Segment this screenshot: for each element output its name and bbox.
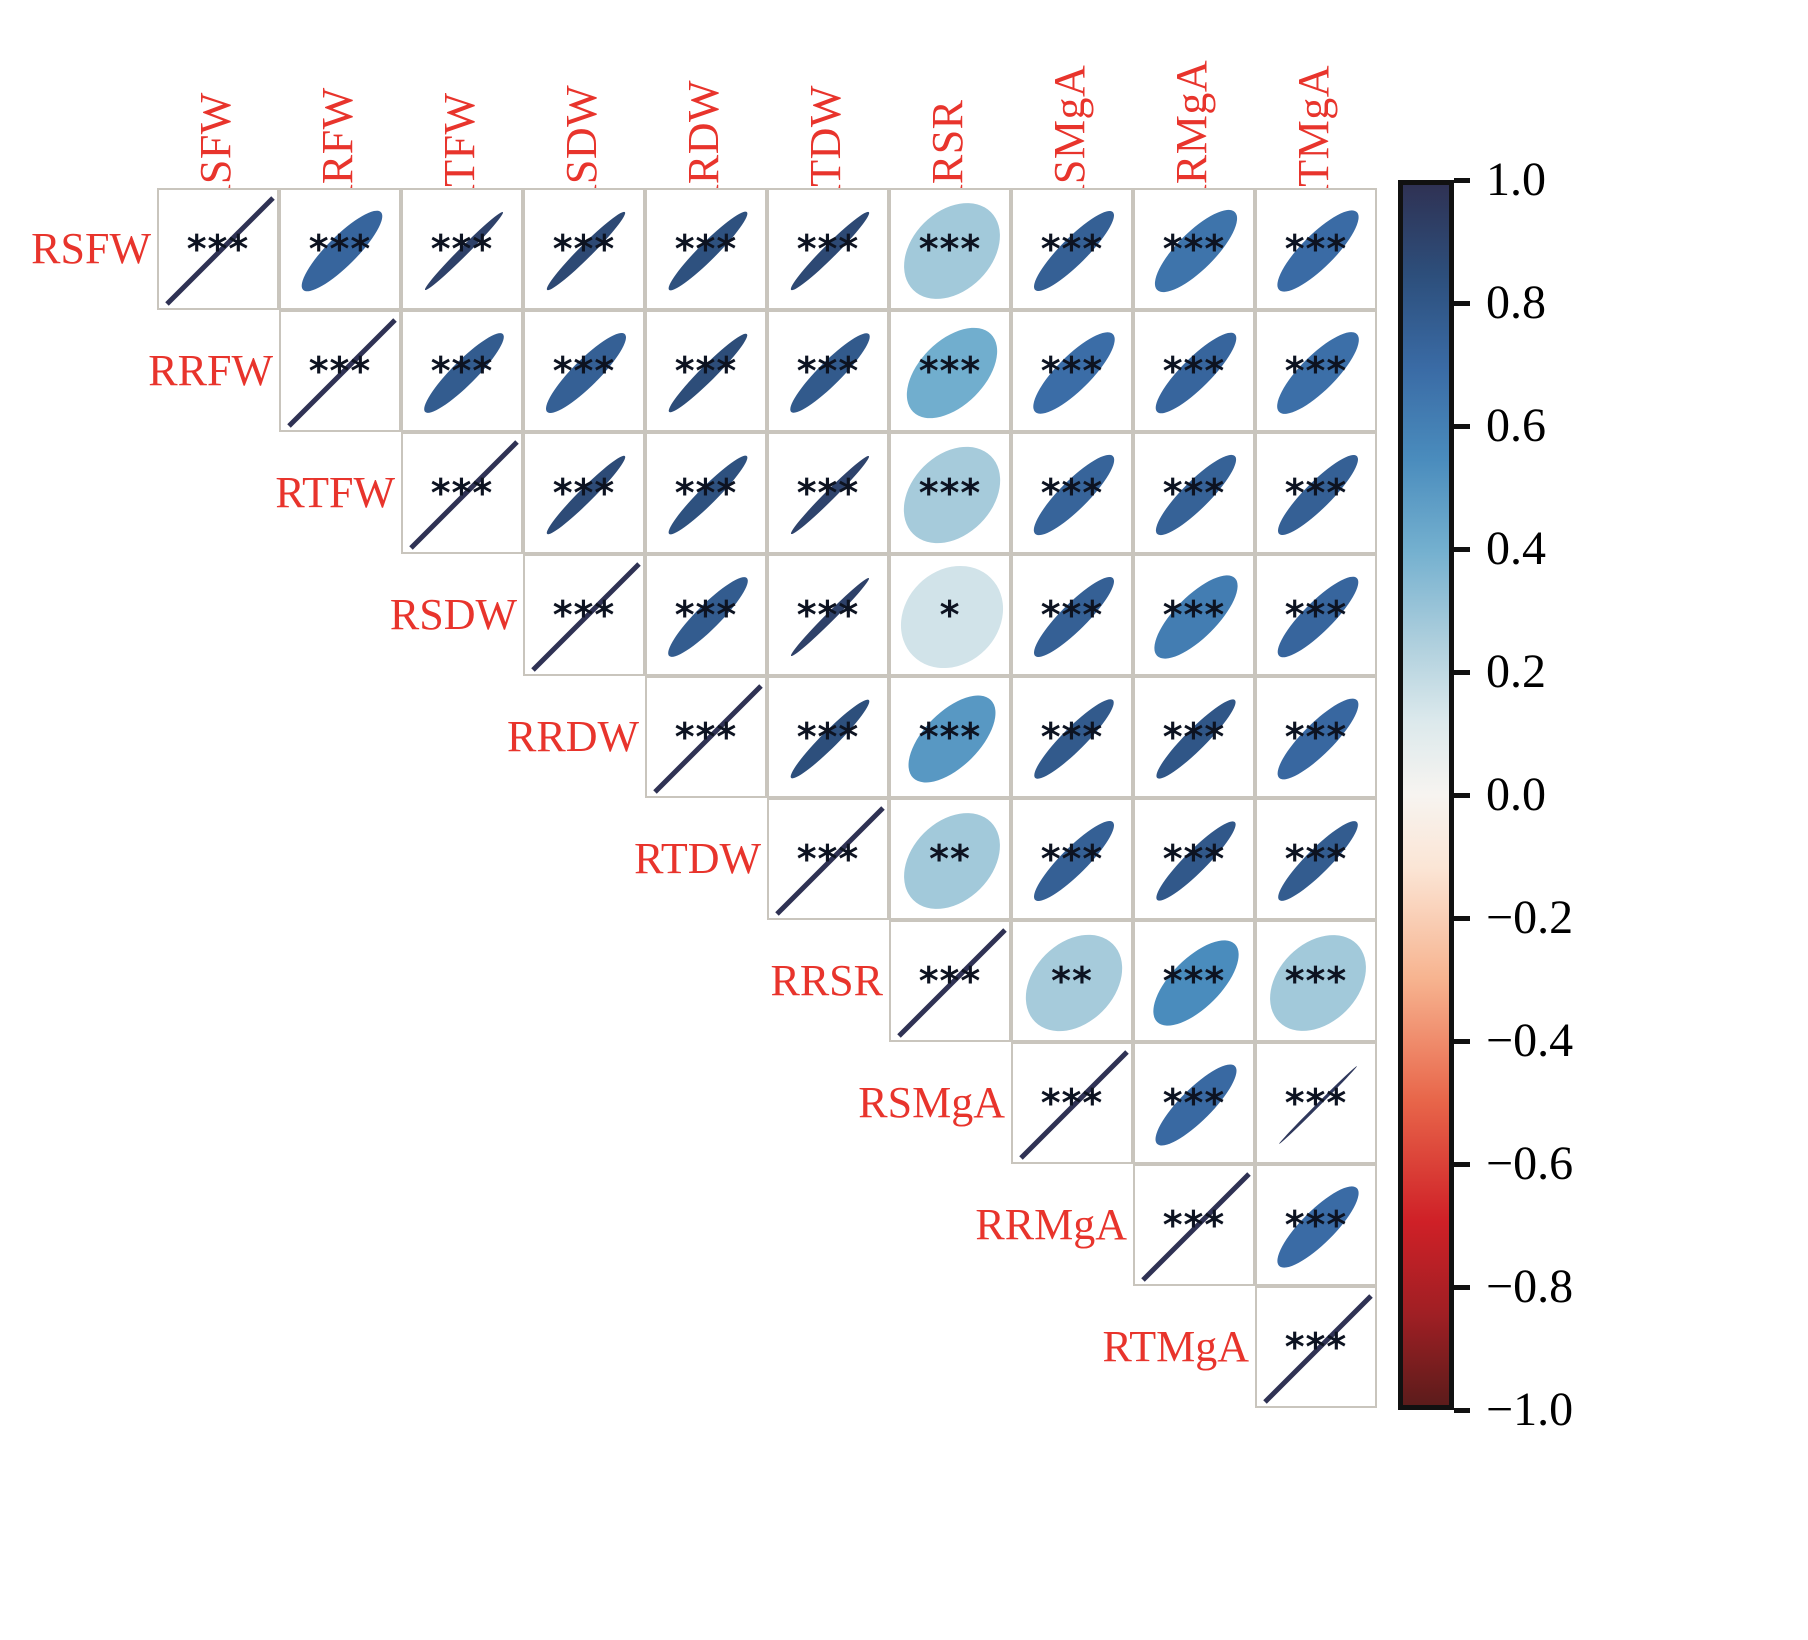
correlation-matrix-figure: RSFWRRFWRTFWRSDWRRDWRTDWRRSRRSMgARRMgART… (0, 0, 1808, 1640)
matrix-cell-rrsr-rrmga[interactable]: *** (1133, 920, 1255, 1042)
ellipse-glyph (403, 434, 523, 554)
ellipse-glyph (769, 678, 889, 798)
matrix-cell-rtdw-rsmga[interactable]: *** (1011, 798, 1133, 920)
ellipse-glyph (525, 556, 645, 676)
colorbar-tick (1454, 793, 1470, 798)
matrix-cell-rsfw-rsfw[interactable]: *** (157, 188, 279, 310)
colorbar-tick (1454, 424, 1470, 429)
ellipse-glyph (281, 312, 401, 432)
ellipse-glyph (647, 434, 767, 554)
matrix-cell-rtfw-rsdw[interactable]: *** (523, 432, 645, 554)
ellipse-glyph (1013, 922, 1133, 1042)
colorbar-tick (1454, 178, 1470, 183)
colorbar-tick-label: −1.0 (1486, 1386, 1573, 1434)
ellipse-glyph (1135, 922, 1255, 1042)
ellipse-glyph (1013, 190, 1133, 310)
row-label-rtdw: RTDW (501, 837, 761, 881)
colorbar-tick-label: −0.2 (1486, 894, 1573, 942)
matrix-cell-rsfw-rsmga[interactable]: *** (1011, 188, 1133, 310)
ellipse-glyph (525, 312, 645, 432)
ellipse-glyph (1257, 1288, 1377, 1408)
matrix-cell-rrsr-rtmga[interactable]: *** (1255, 920, 1377, 1042)
matrix-cell-rrfw-rtdw[interactable]: *** (767, 310, 889, 432)
matrix-cell-rrfw-rrdw[interactable]: *** (645, 310, 767, 432)
matrix-cell-rsmga-rtmga[interactable]: *** (1255, 1042, 1377, 1164)
ellipse-glyph (891, 556, 1011, 676)
matrix-cell-rsfw-rrsr[interactable]: *** (889, 188, 1011, 310)
ellipse-glyph (1135, 1166, 1255, 1286)
ellipse-glyph (525, 434, 645, 554)
matrix-cell-rsmga-rsmga[interactable]: *** (1011, 1042, 1133, 1164)
matrix-cell-rsfw-rsdw[interactable]: *** (523, 188, 645, 310)
ellipse-glyph (1135, 190, 1255, 310)
colorbar-tick-label: −0.8 (1486, 1263, 1573, 1311)
ellipse-glyph (1257, 800, 1377, 920)
colorbar-tick (1454, 301, 1470, 306)
ellipse-glyph (1257, 1166, 1377, 1286)
ellipse-glyph (769, 190, 889, 310)
ellipse-glyph (281, 190, 401, 310)
matrix-cell-rrfw-rtmga[interactable]: *** (1255, 310, 1377, 432)
matrix-cell-rrfw-rrsr[interactable]: *** (889, 310, 1011, 432)
colorbar-tick-label: 0.4 (1486, 525, 1546, 573)
ellipse-glyph (891, 312, 1011, 432)
colorbar-tick (1454, 1039, 1470, 1044)
matrix-cell-rrmga-rrmga[interactable]: *** (1133, 1164, 1255, 1286)
ellipse-glyph (1013, 556, 1133, 676)
row-label-rsdw: RSDW (257, 593, 517, 637)
ellipse-glyph (1257, 190, 1377, 310)
colorbar-tick (1454, 547, 1470, 552)
matrix-cell-rsfw-rrdw[interactable]: *** (645, 188, 767, 310)
ellipse-glyph (769, 800, 889, 920)
matrix-cell-rtfw-rrdw[interactable]: *** (645, 432, 767, 554)
ellipse-glyph (769, 312, 889, 432)
colorbar-tick-label: −0.4 (1486, 1017, 1573, 1065)
matrix-cell-rsmga-rrmga[interactable]: *** (1133, 1042, 1255, 1164)
ellipse-glyph (1257, 556, 1377, 676)
matrix-cell-rsdw-rtmga[interactable]: *** (1255, 554, 1377, 676)
ellipse-glyph (1013, 1044, 1133, 1164)
matrix-cell-rsdw-rrsr[interactable]: * (889, 554, 1011, 676)
matrix-cell-rsfw-rtfw[interactable]: *** (401, 188, 523, 310)
colorbar-tick-label: 0.8 (1486, 279, 1546, 327)
colorbar-tick-label: 0.0 (1486, 771, 1546, 819)
matrix-cell-rsdw-rtdw[interactable]: *** (767, 554, 889, 676)
ellipse-glyph (1135, 312, 1255, 432)
matrix-cell-rsfw-rrfw[interactable]: *** (279, 188, 401, 310)
ellipse-glyph (403, 190, 523, 310)
matrix-cell-rrdw-rtmga[interactable]: *** (1255, 676, 1377, 798)
matrix-cell-rsdw-rrdw[interactable]: *** (645, 554, 767, 676)
colorbar-tick (1454, 1285, 1470, 1290)
matrix-cell-rtfw-rtfw[interactable]: *** (401, 432, 523, 554)
matrix-cell-rrdw-rsmga[interactable]: *** (1011, 676, 1133, 798)
matrix-cell-rtdw-rtmga[interactable]: *** (1255, 798, 1377, 920)
row-label-rsfw: RSFW (0, 227, 151, 271)
matrix-cell-rrdw-rrdw[interactable]: *** (645, 676, 767, 798)
ellipse-glyph (1135, 678, 1255, 798)
ellipse-glyph (891, 678, 1011, 798)
colorbar-gradient (1398, 180, 1454, 1410)
ellipse-glyph (891, 800, 1011, 920)
ellipse-glyph (647, 312, 767, 432)
ellipse-glyph (1257, 312, 1377, 432)
matrix-cell-rrfw-rsdw[interactable]: *** (523, 310, 645, 432)
matrix-cell-rtmga-rtmga[interactable]: *** (1255, 1286, 1377, 1408)
ellipse-glyph (1135, 556, 1255, 676)
colorbar-tick-label: 0.2 (1486, 648, 1546, 696)
row-label-rrfw: RRFW (13, 349, 273, 393)
ellipse-glyph (891, 190, 1011, 310)
ellipse-glyph (1013, 434, 1133, 554)
matrix-cell-rtfw-rtdw[interactable]: *** (767, 432, 889, 554)
colorbar-tick (1454, 916, 1470, 921)
matrix-cell-rsfw-rtmga[interactable]: *** (1255, 188, 1377, 310)
colorbar-tick (1454, 1162, 1470, 1167)
ellipse-glyph (1013, 312, 1133, 432)
row-label-rsmga: RSMgA (745, 1081, 1005, 1125)
matrix-cell-rtfw-rsmga[interactable]: *** (1011, 432, 1133, 554)
ellipse-glyph (1257, 678, 1377, 798)
matrix-cell-rrdw-rtdw[interactable]: *** (767, 676, 889, 798)
matrix-cell-rrfw-rrfw[interactable]: *** (279, 310, 401, 432)
matrix-cell-rrsr-rsmga[interactable]: ** (1011, 920, 1133, 1042)
colorbar: 1.00.80.60.40.20.0−0.2−0.4−0.6−0.8−1.0 (1398, 180, 1714, 1410)
row-label-rrmga: RRMgA (867, 1203, 1127, 1247)
ellipse-glyph (769, 556, 889, 676)
matrix-cell-rrfw-rsmga[interactable]: *** (1011, 310, 1133, 432)
ellipse-glyph (1135, 434, 1255, 554)
matrix-cell-rsfw-rrmga[interactable]: *** (1133, 188, 1255, 310)
matrix-cell-rrmga-rtmga[interactable]: *** (1255, 1164, 1377, 1286)
colorbar-tick (1454, 670, 1470, 675)
ellipse-glyph (1135, 800, 1255, 920)
ellipse-glyph (891, 434, 1011, 554)
ellipse-glyph (1135, 1044, 1255, 1164)
matrix-cell-rsfw-rtdw[interactable]: *** (767, 188, 889, 310)
ellipse-glyph (647, 556, 767, 676)
matrix-cell-rsdw-rsmga[interactable]: *** (1011, 554, 1133, 676)
ellipse-glyph (1257, 1044, 1377, 1164)
row-label-rtfw: RTFW (135, 471, 395, 515)
row-label-rrsr: RRSR (623, 959, 883, 1003)
matrix-cell-rtdw-rrmga[interactable]: *** (1133, 798, 1255, 920)
ellipse-glyph (769, 434, 889, 554)
ellipse-glyph (1257, 922, 1377, 1042)
matrix-cell-rrdw-rrsr[interactable]: *** (889, 676, 1011, 798)
colorbar-tick-label: −0.6 (1486, 1140, 1573, 1188)
matrix-cell-rsdw-rsdw[interactable]: *** (523, 554, 645, 676)
ellipse-glyph (403, 312, 523, 432)
matrix-cell-rtdw-rtdw[interactable]: *** (767, 798, 889, 920)
ellipse-glyph (525, 190, 645, 310)
ellipse-glyph (1013, 800, 1133, 920)
ellipse-glyph (647, 190, 767, 310)
matrix-cell-rtfw-rrmga[interactable]: *** (1133, 432, 1255, 554)
row-label-rrdw: RRDW (379, 715, 639, 759)
colorbar-tick-label: 1.0 (1486, 156, 1546, 204)
ellipse-glyph (1013, 678, 1133, 798)
colorbar-tick-label: 0.6 (1486, 402, 1546, 450)
matrix-cell-rrdw-rrmga[interactable]: *** (1133, 676, 1255, 798)
colorbar-tick (1454, 1408, 1470, 1413)
ellipse-glyph (647, 678, 767, 798)
row-label-rtmga: RTMgA (989, 1325, 1249, 1369)
matrix-cell-rsdw-rrmga[interactable]: *** (1133, 554, 1255, 676)
ellipse-glyph (159, 190, 279, 310)
ellipse-glyph (1257, 434, 1377, 554)
matrix-cell-rrfw-rtfw[interactable]: *** (401, 310, 523, 432)
matrix-cell-rtfw-rrsr[interactable]: *** (889, 432, 1011, 554)
matrix-cell-rtfw-rtmga[interactable]: *** (1255, 432, 1377, 554)
matrix-cell-rtdw-rrsr[interactable]: ** (889, 798, 1011, 920)
matrix-cell-rrsr-rrsr[interactable]: *** (889, 920, 1011, 1042)
matrix-cell-rrfw-rrmga[interactable]: *** (1133, 310, 1255, 432)
ellipse-glyph (891, 922, 1011, 1042)
